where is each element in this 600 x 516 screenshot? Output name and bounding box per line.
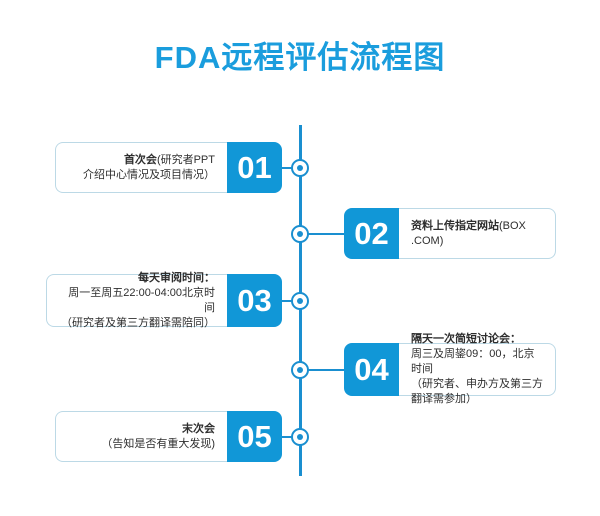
step-01[interactable]: 首次会(研究者PPT 介绍中心情况及项目情况） 01 xyxy=(55,142,282,193)
step-02-label: 资料上传指定网站(BOX .COM) xyxy=(399,219,555,249)
step-03[interactable]: 每天审阅时间： 周一至周五22:00-04:00北京时间 （研究者及第三方翻译需… xyxy=(46,274,282,327)
node-04[interactable] xyxy=(291,361,309,379)
step-02-panel: 资料上传指定网站(BOX .COM) xyxy=(399,208,556,259)
step-03-line-1: 每天审阅时间： xyxy=(59,271,215,286)
step-04-panel: 隔天一次简短讨论会： 周三及周䤰09：00，北京时间 （研究者、申办方及第三方翻… xyxy=(399,343,556,396)
step-04[interactable]: 04 隔天一次简短讨论会： 周三及周䤰09：00，北京时间 （研究者、申办方及第… xyxy=(344,343,556,396)
step-03-label: 每天审阅时间： 周一至周五22:00-04:00北京时间 （研究者及第三方翻译需… xyxy=(47,271,227,331)
step-03-line-2: 周一至周五22:00-04:00北京时间 xyxy=(59,286,215,316)
step-04-number: 04 xyxy=(344,343,399,396)
step-04-label: 隔天一次简短讨论会： 周三及周䤰09：00，北京时间 （研究者、申办方及第三方翻… xyxy=(399,332,555,407)
step-04-line-1-bold: 隔天一次简短讨论会： xyxy=(411,333,521,345)
node-01[interactable] xyxy=(291,159,309,177)
step-03-line-3-rest: （研究者及第三方翻译需陪同） xyxy=(61,317,215,329)
step-04-line-1: 隔天一次简短讨论会： xyxy=(411,332,543,347)
step-02-line-1: 资料上传指定网站(BOX .COM) xyxy=(411,219,543,249)
step-03-number: 03 xyxy=(227,274,282,327)
node-05[interactable] xyxy=(291,428,309,446)
flowchart-canvas: FDA远程评估流程图 首次会(研究者PPT 介绍中心情况及项目情况） 01 02 xyxy=(0,0,600,516)
step-01-line-2: 介绍中心情况及项目情况） xyxy=(68,168,215,183)
step-05-line-1-bold: 末次会 xyxy=(182,423,215,435)
step-05-label: 末次会 （告知是否有重大发现) xyxy=(56,422,227,452)
node-03[interactable] xyxy=(291,292,309,310)
step-01-line-1: 首次会(研究者PPT xyxy=(68,153,215,168)
step-03-line-3: （研究者及第三方翻译需陪同） xyxy=(59,316,215,331)
step-05-number: 05 xyxy=(227,411,282,462)
step-02-number: 02 xyxy=(344,208,399,259)
step-01-number: 01 xyxy=(227,142,282,193)
step-03-panel: 每天审阅时间： 周一至周五22:00-04:00北京时间 （研究者及第三方翻译需… xyxy=(46,274,227,327)
step-04-line-2: 周三及周䤰09：00，北京时间 xyxy=(411,347,543,377)
step-01-line-1-bold: 首次会 xyxy=(124,154,157,166)
step-02-line-1-bold: 资料上传指定网站 xyxy=(411,220,499,232)
step-05-panel: 末次会 （告知是否有重大发现) xyxy=(55,411,227,462)
step-04-line-3: （研究者、申办方及第三方翻译需参加） xyxy=(411,377,543,407)
step-04-line-3-rest: （研究者、申办方及第三方翻译需参加） xyxy=(411,378,543,405)
step-01-line-1-rest: (研究者PPT xyxy=(157,154,215,166)
step-05-line-1: 末次会 xyxy=(68,422,215,437)
step-05-line-2: （告知是否有重大发现) xyxy=(68,437,215,452)
node-02[interactable] xyxy=(291,225,309,243)
step-01-line-2-rest: 介绍中心情况及项目情况） xyxy=(83,169,215,181)
step-01-panel: 首次会(研究者PPT 介绍中心情况及项目情况） xyxy=(55,142,227,193)
step-03-line-1-bold: 每天审阅时间： xyxy=(138,272,215,284)
step-02[interactable]: 02 资料上传指定网站(BOX .COM) xyxy=(344,208,556,259)
step-05[interactable]: 末次会 （告知是否有重大发现) 05 xyxy=(55,411,282,462)
page-title: FDA远程评估流程图 xyxy=(0,38,600,78)
step-01-label: 首次会(研究者PPT 介绍中心情况及项目情况） xyxy=(56,153,227,183)
step-05-line-2-rest: （告知是否有重大发现) xyxy=(101,438,215,450)
step-04-line-2-rest: 周三及周䤰09：00，北京时间 xyxy=(411,348,534,375)
step-03-line-2-rest: 周一至周五22:00-04:00北京时间 xyxy=(68,287,215,314)
